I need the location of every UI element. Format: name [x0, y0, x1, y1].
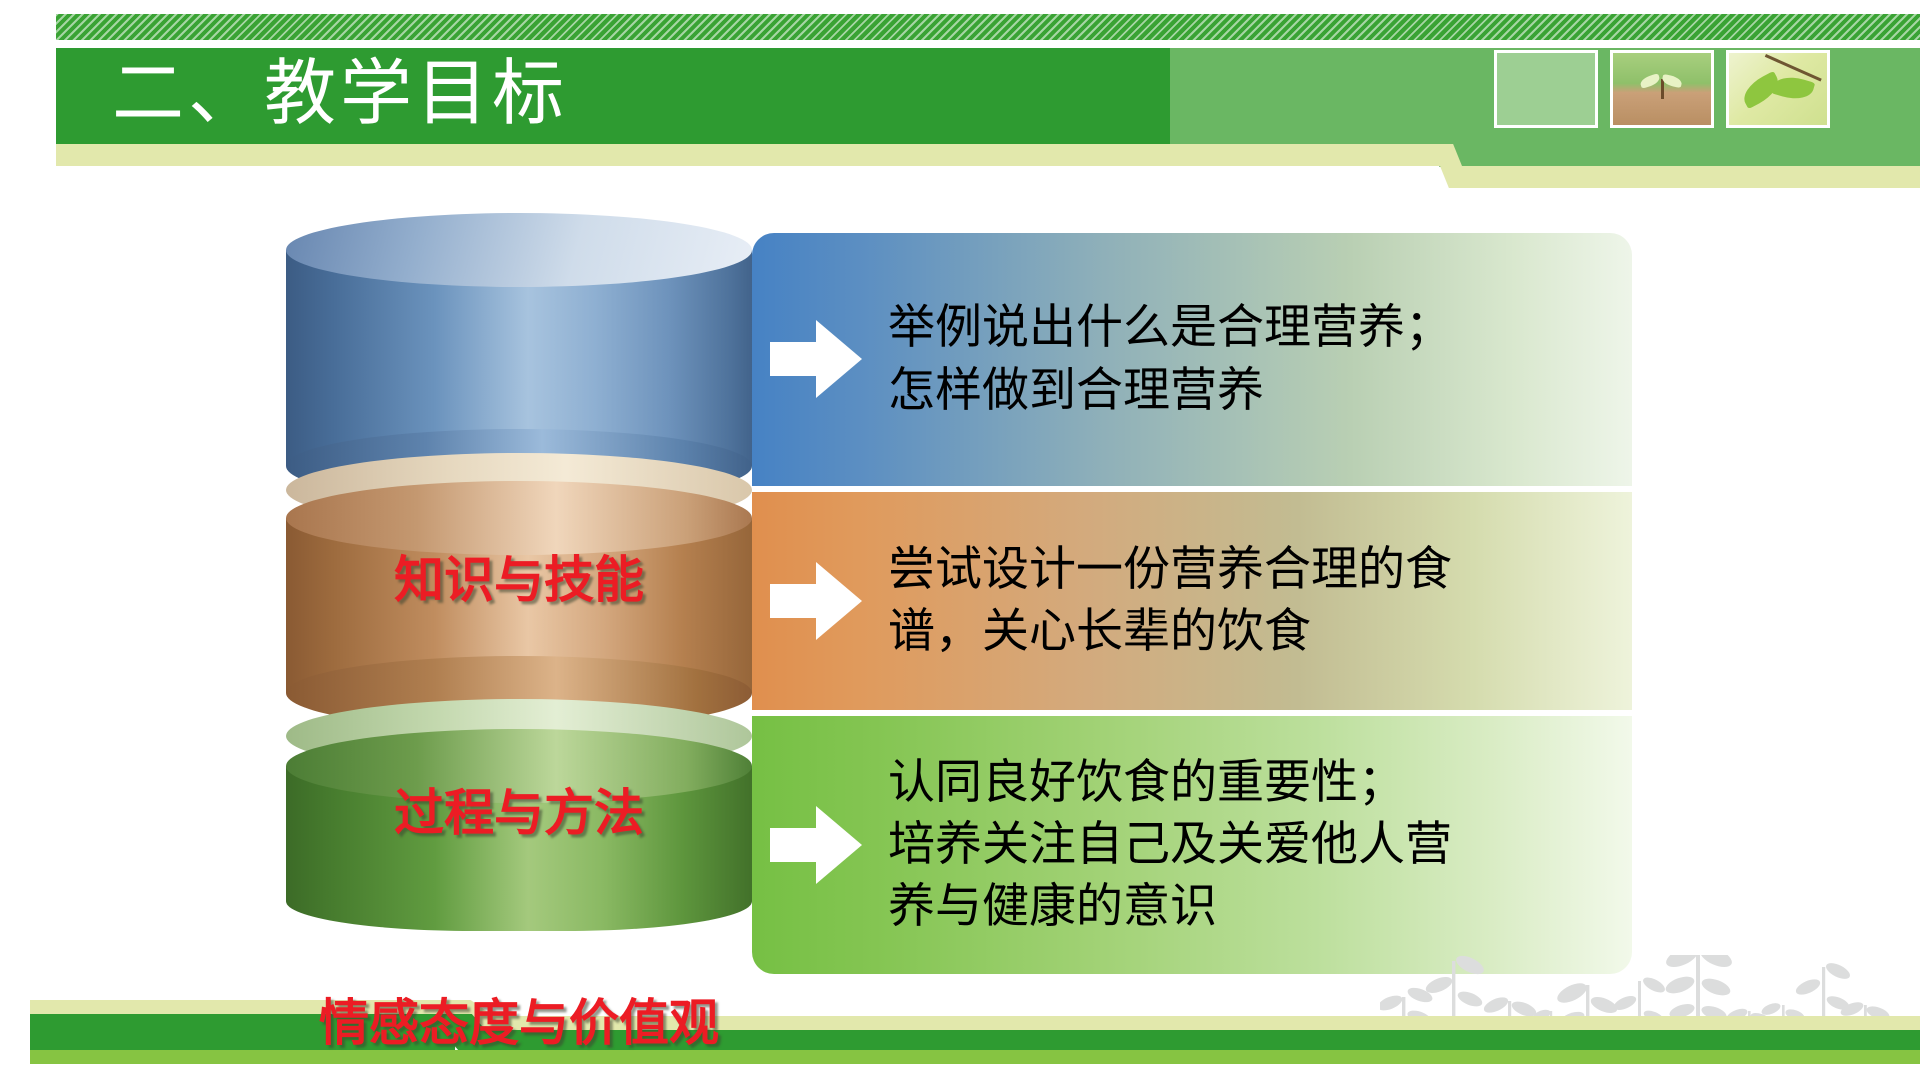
objective-panel-knowledge: 举例说出什么是合理营养； 怎样做到合理营养: [752, 233, 1632, 486]
cylinder-label-attitude: 情感态度与价值观: [286, 996, 752, 1051]
footer-lime-stripe: [30, 1050, 1920, 1064]
right-arrow-icon: [770, 806, 862, 884]
panel-line: 谱，关心长辈的饮食: [888, 601, 1452, 663]
objective-panel-attitude-text: 认同良好饮食的重要性； 培养关注自己及关爱他人营 养与健康的意识: [888, 752, 1452, 938]
right-arrow-icon: [770, 562, 862, 640]
panel-line: 怎样做到合理营养: [888, 360, 1452, 422]
right-arrow-icon: [770, 320, 862, 398]
teaching-objectives-diagram: 举例说出什么是合理营养； 怎样做到合理营养 尝试设计一份营养合理的食 谱，关心长…: [0, 0, 1920, 1080]
arrow-shaft: [770, 342, 822, 376]
arrow-head: [816, 320, 862, 398]
objective-panel-attitude: 认同良好饮食的重要性； 培养关注自己及关爱他人营 养与健康的意识: [752, 716, 1632, 974]
slide-canvas: 二、教学目标 举例说出什么是合理营养； 怎样做到合理营养 尝试设计一份营养合理的…: [0, 0, 1920, 1080]
objective-panel-knowledge-text: 举例说出什么是合理营养； 怎样做到合理营养: [888, 297, 1452, 421]
arrow-shaft: [770, 828, 822, 862]
panel-line: 尝试设计一份营养合理的食: [888, 539, 1452, 601]
arrow-head: [816, 562, 862, 640]
objective-panel-process: 尝试设计一份营养合理的食 谱，关心长辈的饮食: [752, 492, 1632, 710]
panel-line: 培养关注自己及关爱他人营: [888, 814, 1452, 876]
objective-panel-process-text: 尝试设计一份营养合理的食 谱，关心长辈的饮食: [888, 539, 1452, 663]
cylinder-label-knowledge: 知识与技能: [286, 553, 752, 608]
cylinder-top-cap: [286, 481, 752, 555]
panel-line: 举例说出什么是合理营养；: [888, 297, 1452, 359]
panel-line: 养与健康的意识: [888, 876, 1452, 938]
panel-line: 认同良好饮食的重要性；: [888, 752, 1452, 814]
cylinder-label-process: 过程与方法: [286, 786, 752, 841]
stacked-cylinder-graphic: 知识与技能 过程与方法 情感态度与价值观: [286, 213, 752, 931]
cylinder-top-cap: [286, 213, 752, 287]
arrow-shaft: [770, 584, 822, 618]
arrow-head: [816, 806, 862, 884]
